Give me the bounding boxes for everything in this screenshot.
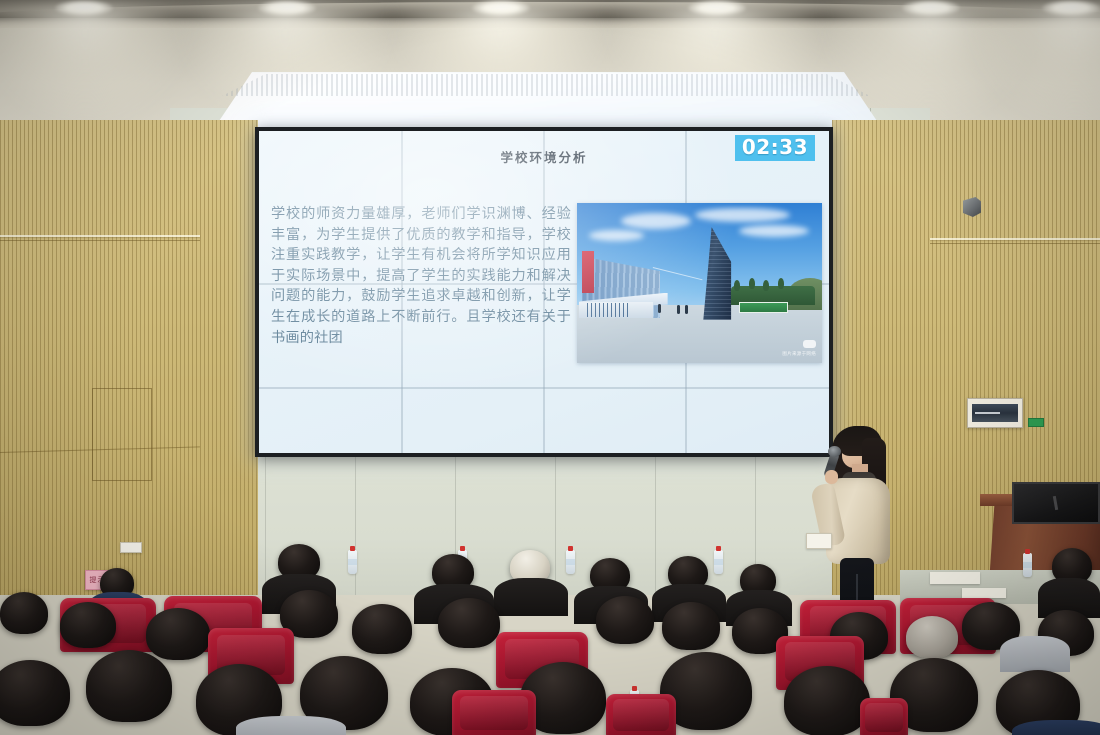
watermark-text: 图片来源于网络 xyxy=(782,351,816,356)
lcd-video-wall[interactable]: 学校环境分析 02:33 学校的师资力量雄厚，老师们学识渊博、经验丰富，为学生提… xyxy=(255,127,833,457)
wall-trim-line xyxy=(930,243,1100,244)
ceiling-downlight xyxy=(472,0,530,16)
audience-head xyxy=(784,666,870,735)
lecture-hall-photo: 提示牌 学校环境分析 02:33 学校的师资力量雄厚，老师们学识渊博、经验丰富，… xyxy=(0,0,1100,735)
audience-shoulders xyxy=(1012,720,1100,735)
water-bottle xyxy=(566,550,575,574)
audience-head xyxy=(0,592,48,634)
presenter-hand xyxy=(825,470,838,484)
audience-head xyxy=(662,602,720,650)
photo-person xyxy=(685,305,688,314)
student-audience xyxy=(0,540,1100,735)
audience-head xyxy=(146,608,210,660)
wall-access-panel xyxy=(92,388,152,481)
ceiling-downlight xyxy=(55,0,113,16)
water-bottle xyxy=(348,550,357,574)
watermark-logo-icon xyxy=(803,340,816,348)
photo-tree xyxy=(763,280,769,291)
auditorium-seat xyxy=(606,694,676,735)
audience-shoulders xyxy=(236,716,346,735)
wall-trim-line xyxy=(0,240,200,241)
panel-bezel-seam xyxy=(259,387,829,389)
green-exit-tag xyxy=(1028,418,1044,427)
light-panel-louver xyxy=(186,74,906,96)
microphone-head-icon xyxy=(828,446,841,457)
photo-tree xyxy=(749,278,755,289)
left-wood-slat-wall xyxy=(0,120,258,595)
audience-shoulders xyxy=(494,578,568,616)
photo-tree xyxy=(734,280,740,291)
water-bottle xyxy=(714,550,723,574)
ceiling-downlight xyxy=(1042,0,1100,16)
auditorium-seat xyxy=(452,690,536,735)
audience-head-gray xyxy=(906,616,958,658)
photo-person xyxy=(658,304,661,313)
wall-camera-icon xyxy=(963,197,981,217)
wall-trim-line xyxy=(0,235,200,237)
audience-head xyxy=(86,650,172,722)
photo-gate-wall xyxy=(579,302,653,318)
photo-banner xyxy=(582,251,594,293)
campus-gate-photo: 图片来源于网络 xyxy=(577,203,822,363)
screen-surface[interactable]: 学校环境分析 02:33 学校的师资力量雄厚，老师们学识渊博、经验丰富，为学生提… xyxy=(259,131,829,453)
auditorium-seat xyxy=(860,698,908,735)
cloud xyxy=(695,208,790,222)
photo-watermark: 图片来源于网络 xyxy=(782,340,816,358)
audience-shoulders xyxy=(1000,636,1070,672)
panel-box-inner xyxy=(972,404,1018,422)
audience-head xyxy=(352,604,412,654)
electrical-panel-box xyxy=(967,398,1023,428)
countdown-timer: 02:33 xyxy=(735,135,815,161)
audience-head xyxy=(60,602,116,648)
cloud xyxy=(621,213,691,229)
ceiling-downlight xyxy=(258,0,316,16)
audience-head xyxy=(438,598,500,648)
photo-tree xyxy=(778,278,784,289)
ceiling-downlight xyxy=(902,0,960,16)
slide-body-text: 学校的师资力量雄厚，老师们学识渊博、经验丰富，为学生提供了优质的教学和指导，学校… xyxy=(271,204,571,348)
photo-green-signboard xyxy=(739,302,788,313)
ceiling-downlight xyxy=(688,0,746,16)
water-bottle xyxy=(1023,553,1032,577)
audience-head xyxy=(596,596,654,644)
wall-trim-line xyxy=(930,238,1100,240)
audience-head xyxy=(0,660,70,726)
